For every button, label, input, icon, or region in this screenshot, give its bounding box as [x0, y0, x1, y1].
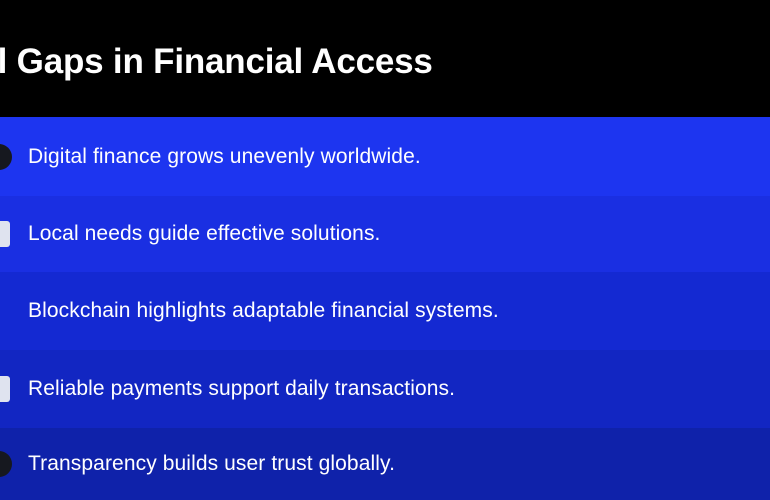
- list-item[interactable]: Transparency builds user trust globally.: [0, 428, 770, 500]
- bullet-badge-icon: [0, 221, 10, 247]
- list-item[interactable]: Blockchain highlights adaptable financia…: [0, 272, 770, 350]
- list-item-label: Transparency builds user trust globally.: [28, 450, 395, 478]
- list-item-label: Reliable payments support daily transact…: [28, 375, 455, 403]
- list-item-label: Blockchain highlights adaptable financia…: [28, 297, 499, 325]
- bullet-badge-icon: [0, 376, 10, 402]
- slide-header: obal Gaps in Financial Access: [0, 0, 770, 117]
- bullet-badge-icon: [0, 144, 12, 170]
- list-item-label: Digital finance grows unevenly worldwide…: [28, 143, 421, 171]
- list-item[interactable]: Reliable payments support daily transact…: [0, 350, 770, 428]
- slide-canvas: obal Gaps in Financial Access Digital fi…: [0, 0, 770, 500]
- list-item-label: Local needs guide effective solutions.: [28, 220, 380, 248]
- bullet-list: Digital finance grows unevenly worldwide…: [0, 117, 770, 500]
- list-item[interactable]: Local needs guide effective solutions.: [0, 196, 770, 272]
- page-title: obal Gaps in Financial Access: [0, 40, 433, 84]
- list-item[interactable]: Digital finance grows unevenly worldwide…: [0, 117, 770, 196]
- bullet-badge-icon: [0, 451, 12, 477]
